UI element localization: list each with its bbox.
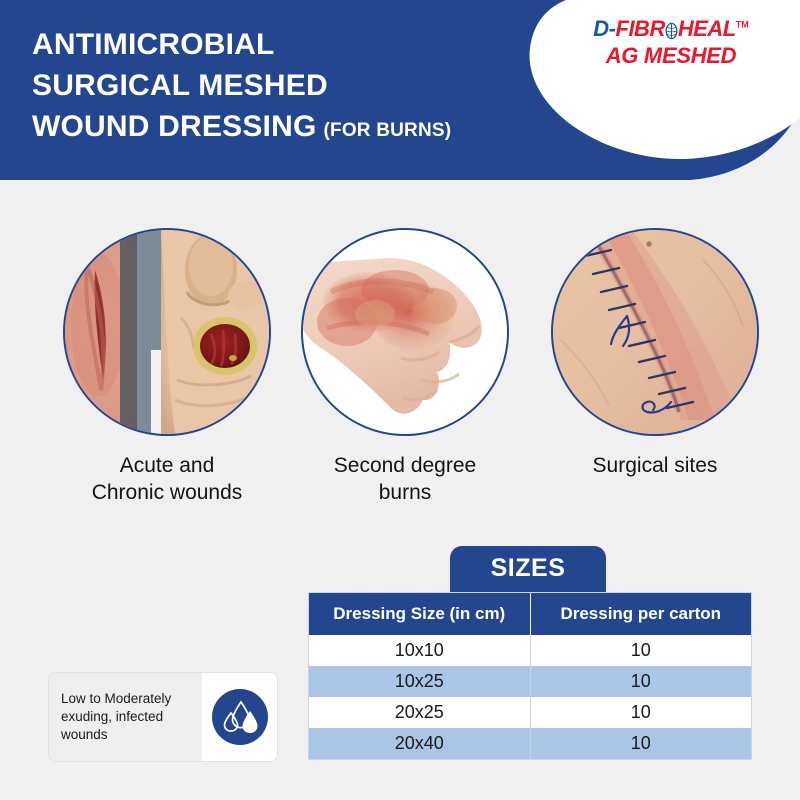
caption-line-2: Chronic wounds [42,479,292,506]
caption-line-1: Surgical sites [530,452,780,479]
indication-card-surgical: Surgical sites [530,228,780,479]
indication-card-burns: Second degree burns [280,228,530,506]
table-row: 10x10 10 [309,635,751,666]
header-banner: ANTIMICROBIAL SURGICAL MESHED WOUND DRES… [0,0,800,200]
exudate-badge-text: Low to Moderately exuding, infected woun… [49,673,202,761]
cell-dressing-size: 20x25 [309,697,530,728]
cell-dressing-size: 20x40 [309,728,530,759]
logo-secondary-wordmark: AG MESHED [556,45,786,67]
sizes-tab-label: SIZES [450,546,606,592]
page-title-line-3: WOUND DRESSING(FOR BURNS) [32,106,552,151]
indication-card-acute-chronic: Acute and Chronic wounds [42,228,292,506]
cell-dressing-size: 10x25 [309,666,530,697]
badge-text-line-2: exuding, infected [61,708,171,726]
page-title-line-3-text: WOUND DRESSING [32,110,316,143]
column-header-dressing-size: Dressing Size (in cm) [309,593,530,635]
badge-text-line-1: Low to Moderately [61,690,171,708]
column-header-dressing-per-carton: Dressing per carton [530,593,751,635]
exudate-badge-icon-area [202,673,277,761]
page-title-line-2: SURGICAL MESHED [32,65,552,106]
logo-suffix: HEAL [678,16,736,41]
cell-dressing-per-carton: 10 [530,697,751,728]
cell-dressing-per-carton: 10 [530,635,751,666]
wound-photo-acute-chronic-icon [63,228,271,436]
table-header-row: Dressing Size (in cm) Dressing per carto… [309,593,751,635]
cell-dressing-per-carton: 10 [530,666,751,697]
sizes-table: Dressing Size (in cm) Dressing per carto… [308,592,752,760]
card-caption-acute-chronic: Acute and Chronic wounds [42,452,292,506]
page-title-suffix: (FOR BURNS) [323,120,451,141]
badge-text-line-3: wounds [61,726,171,744]
caption-line-1: Second degree [280,452,530,479]
logo-primary-wordmark: D-FIBRHEALTM [593,18,748,40]
logo-mid: FIBR [616,16,665,41]
logo-prefix: D- [593,16,615,41]
product-infographic-page: ANTIMICROBIAL SURGICAL MESHED WOUND DRES… [0,0,800,800]
card-caption-surgical: Surgical sites [530,452,780,479]
cell-dressing-size: 10x10 [309,635,530,666]
page-title-line-1: ANTIMICROBIAL [32,24,552,65]
indication-cards: Acute and Chronic wounds [0,228,800,528]
wound-photo-surgical-site-icon [551,228,759,436]
cell-dressing-per-carton: 10 [530,728,751,759]
card-caption-burns: Second degree burns [280,452,530,506]
trademark-symbol: TM [736,20,749,30]
header-title-block: ANTIMICROBIAL SURGICAL MESHED WOUND DRES… [32,24,552,151]
table-row: 10x25 10 [309,666,751,697]
table-row: 20x25 10 [309,697,751,728]
exudate-badge: Low to Moderately exuding, infected woun… [48,672,278,762]
wound-photo-second-degree-burn-icon [301,228,509,436]
caption-line-1: Acute and [42,452,292,479]
table-row: 20x40 10 [309,728,751,759]
water-droplets-icon [212,689,268,745]
caption-line-2: burns [280,479,530,506]
brand-logo[interactable]: D-FIBRHEALTM AG MESHED [556,18,786,67]
droplet-cocoon-icon [665,21,678,38]
